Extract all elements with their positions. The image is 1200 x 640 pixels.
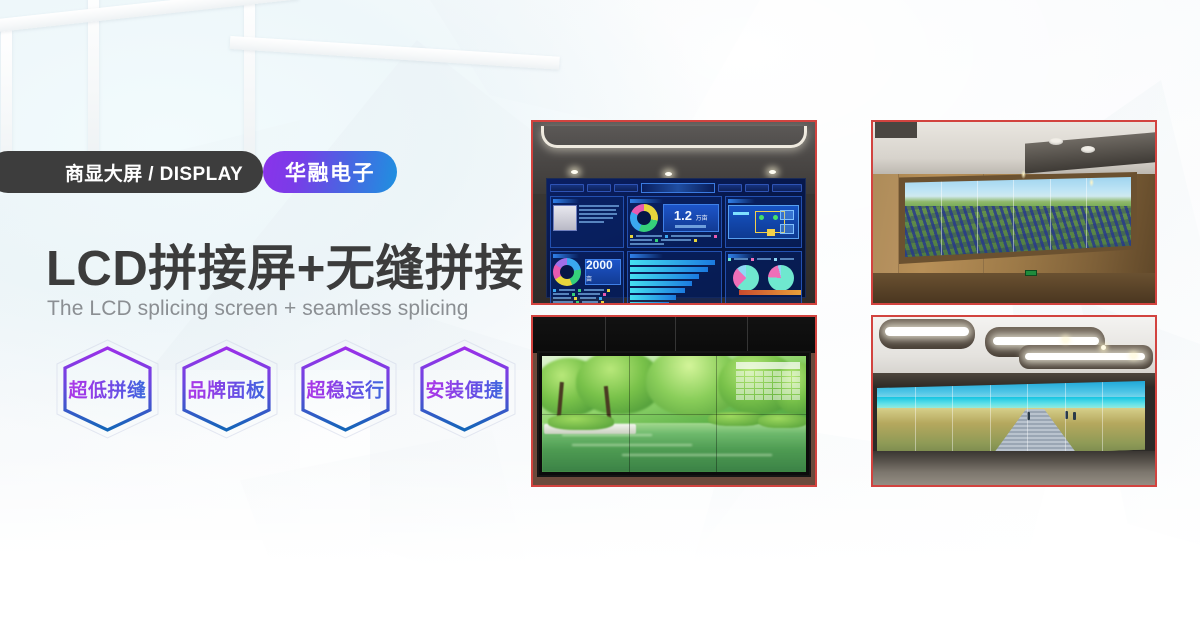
photo-control-room-dashboard: 1.2 万亩 bbox=[531, 120, 817, 305]
hedge bbox=[548, 414, 614, 430]
ceiling-downlight bbox=[1131, 353, 1136, 358]
photo-spotlight bbox=[571, 170, 578, 174]
bar-chart bbox=[630, 260, 719, 305]
feature-item-2: 品牌面板 bbox=[167, 336, 286, 442]
ceiling-light-strip bbox=[885, 327, 969, 336]
calendar-overlay bbox=[736, 362, 800, 414]
metric-tile: 1.2 万亩 bbox=[663, 204, 719, 232]
video-wall-screen bbox=[542, 356, 806, 472]
feature-item-1: 超低拼缝 bbox=[48, 336, 167, 442]
banner-root: 商显大屏 / DISPLAY 华融电子 LCD拼接屏+无缝拼接 The LCD … bbox=[0, 0, 1200, 640]
photo-cove-light bbox=[541, 126, 807, 148]
feature-label: 超稳运行 bbox=[286, 376, 405, 403]
page-title: LCD拼接屏+无缝拼接 bbox=[46, 229, 524, 300]
ceiling-light-strip bbox=[1025, 353, 1145, 360]
feature-item-3: 超稳运行 bbox=[286, 336, 405, 442]
video-wall-screen bbox=[905, 177, 1131, 257]
photo-beach-boardwalk-wall bbox=[871, 315, 1157, 487]
donut-chart bbox=[630, 204, 658, 232]
dashboard-card bbox=[550, 196, 624, 248]
hedge bbox=[758, 414, 806, 428]
feature-item-4: 安装便捷 bbox=[405, 336, 524, 442]
page-subtitle: The LCD splicing screen + seamless splic… bbox=[47, 297, 469, 321]
dashboard-card: 2000 亩 bbox=[550, 251, 624, 305]
dashboard-ticker bbox=[739, 290, 801, 295]
dashboard-card bbox=[627, 251, 722, 305]
background-beam bbox=[244, 0, 255, 168]
donut-chart bbox=[553, 258, 581, 286]
ceiling-downlight bbox=[1063, 337, 1068, 342]
person-silhouette bbox=[1073, 412, 1076, 420]
metric-value: 1.2 bbox=[674, 208, 692, 223]
metric-unit: 万亩 bbox=[696, 216, 708, 222]
background-beam bbox=[88, 0, 99, 160]
photo-ceiling-vent bbox=[875, 122, 917, 138]
metric-tile: 2000 亩 bbox=[585, 259, 621, 285]
dashboard-grid: 1.2 万亩 bbox=[550, 196, 802, 295]
video-wall-top-bezel bbox=[533, 317, 815, 353]
metric-unit: 亩 bbox=[586, 277, 592, 283]
photo-floor bbox=[873, 273, 1155, 303]
photo-spotlight bbox=[665, 172, 672, 176]
feature-label: 安装便捷 bbox=[405, 376, 524, 403]
badge-category-label: 商显大屏 / DISPLAY bbox=[0, 151, 263, 193]
feature-label: 品牌面板 bbox=[167, 376, 286, 403]
video-wall-screen bbox=[877, 381, 1145, 459]
dashboard-card bbox=[725, 251, 802, 305]
feature-list: 超低拼缝 品牌面板 超稳运行 安装便捷 bbox=[48, 336, 524, 442]
dashboard-card: 1.2 万亩 bbox=[627, 196, 722, 248]
badge-brand-label: 华融电子 bbox=[263, 151, 397, 193]
photo-willow-lake-wall bbox=[531, 315, 817, 487]
ceiling-light-strip bbox=[993, 337, 1099, 345]
photo-spotlight bbox=[769, 170, 776, 174]
dashboard-card bbox=[725, 196, 802, 248]
feature-label: 超低拼缝 bbox=[48, 376, 167, 403]
pie-chart bbox=[733, 265, 759, 291]
pie-chart bbox=[768, 265, 794, 291]
metric-value: 2000 bbox=[586, 258, 613, 272]
photo-floor bbox=[873, 451, 1155, 485]
exit-sign-icon bbox=[1025, 270, 1037, 276]
photo-solar-farm-wall bbox=[871, 120, 1157, 305]
dashboard-topbar bbox=[550, 182, 802, 193]
ceiling-downlight bbox=[1101, 345, 1106, 350]
dashboard-screen: 1.2 万亩 bbox=[546, 178, 806, 298]
brand-badge: 商显大屏 / DISPLAY 华融电子 bbox=[49, 151, 397, 193]
